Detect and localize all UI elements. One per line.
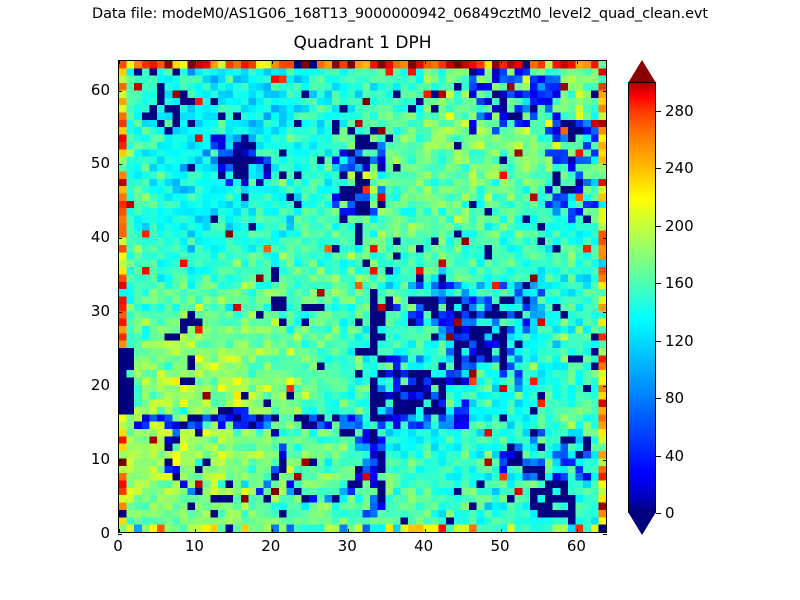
colorbar-tick-mark <box>656 111 661 112</box>
colorbar-tick-label: 280 <box>665 102 694 120</box>
colorbar-gradient <box>629 83 655 512</box>
figure-suptitle: Data file: modeM0/AS1G06_168T13_90000009… <box>0 6 800 22</box>
y-tick-mark <box>118 460 122 461</box>
x-tick-mark <box>577 529 578 533</box>
x-tick-mark <box>119 529 120 533</box>
colorbar-tick-mark <box>656 513 661 514</box>
x-tick-label: 40 <box>394 537 454 555</box>
y-tick-label: 20 <box>56 376 110 394</box>
colorbar-extend-high-arrow <box>628 60 656 83</box>
axes-title: Quadrant 1 DPH <box>118 33 607 53</box>
y-tick-mark <box>118 238 122 239</box>
colorbar-tick-mark <box>656 341 661 342</box>
y-tick-mark <box>118 386 122 387</box>
colorbar-extend-low-arrow <box>628 512 656 535</box>
colorbar-tick-label: 40 <box>665 447 684 465</box>
y-tick-mark <box>118 164 122 165</box>
colorbar-tick-label: 80 <box>665 389 684 407</box>
x-tick-mark <box>425 529 426 533</box>
x-tick-mark <box>119 60 120 64</box>
y-tick-label: 10 <box>56 450 110 468</box>
x-tick-mark <box>425 60 426 64</box>
x-tick-mark <box>272 60 273 64</box>
x-tick-label: 60 <box>546 537 606 555</box>
colorbar-tick-label: 160 <box>665 274 694 292</box>
x-tick-label: 50 <box>470 537 530 555</box>
heatmap-axes[interactable] <box>118 60 607 533</box>
x-tick-mark <box>272 529 273 533</box>
y-tick-mark <box>603 534 607 535</box>
colorbar-tick-mark <box>656 398 661 399</box>
y-tick-mark <box>603 164 607 165</box>
heatmap-image[interactable] <box>119 61 606 532</box>
x-tick-mark <box>348 529 349 533</box>
colorbar-tick-mark <box>656 226 661 227</box>
colorbar-tick-mark <box>656 283 661 284</box>
x-tick-mark <box>501 529 502 533</box>
y-tick-mark <box>603 386 607 387</box>
colorbar-body <box>628 82 656 513</box>
x-tick-label: 30 <box>317 537 377 555</box>
x-tick-mark <box>348 60 349 64</box>
colorbar-tick-mark <box>656 456 661 457</box>
y-tick-label: 60 <box>56 81 110 99</box>
colorbar[interactable]: 04080120160200240280 <box>628 60 656 535</box>
y-tick-mark <box>118 91 122 92</box>
colorbar-tick-label: 0 <box>665 504 675 522</box>
y-tick-mark <box>603 460 607 461</box>
x-tick-label: 10 <box>164 537 224 555</box>
x-tick-mark <box>501 60 502 64</box>
y-tick-mark <box>118 312 122 313</box>
colorbar-tick-mark <box>656 168 661 169</box>
y-tick-label: 40 <box>56 228 110 246</box>
colorbar-tick-label: 240 <box>665 159 694 177</box>
x-tick-mark <box>195 529 196 533</box>
y-tick-mark <box>603 312 607 313</box>
colorbar-tick-label: 200 <box>665 217 694 235</box>
x-tick-mark <box>195 60 196 64</box>
matplotlib-figure: Data file: modeM0/AS1G06_168T13_90000009… <box>0 0 800 600</box>
y-tick-mark <box>603 91 607 92</box>
y-tick-label: 50 <box>56 154 110 172</box>
colorbar-tick-label: 120 <box>665 332 694 350</box>
x-tick-label: 20 <box>241 537 301 555</box>
y-tick-mark <box>118 534 122 535</box>
x-tick-mark <box>577 60 578 64</box>
y-tick-mark <box>603 238 607 239</box>
y-tick-label: 30 <box>56 302 110 320</box>
y-tick-label: 0 <box>56 524 110 542</box>
